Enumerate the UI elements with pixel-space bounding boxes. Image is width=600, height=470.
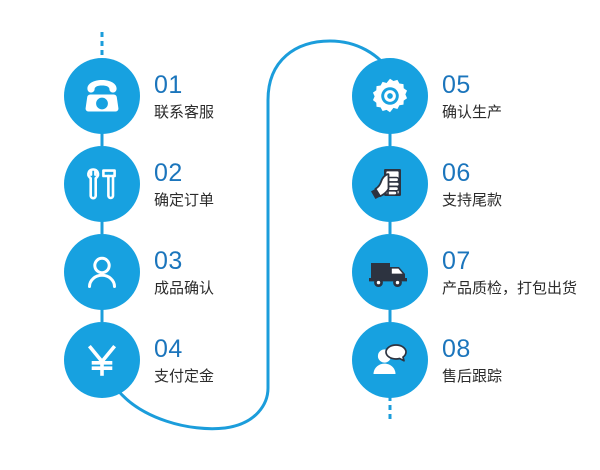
step-04-number: 04: [154, 337, 214, 362]
step-02-text: 02 确定订单: [154, 161, 214, 208]
person-icon: [80, 250, 124, 294]
step-05-number: 05: [442, 73, 502, 98]
step-01-badge: [64, 58, 140, 134]
step-07-text: 07 产品质检，打包出货: [442, 249, 577, 296]
step-07-number: 07: [442, 249, 577, 274]
step-04-badge: [64, 322, 140, 398]
step-05[interactable]: 05 确认生产: [352, 57, 600, 135]
step-01-text: 01 联系客服: [154, 73, 214, 120]
gear-icon: [367, 73, 413, 119]
yuan-currency-icon: [80, 338, 124, 382]
step-03-label: 成品确认: [154, 281, 214, 296]
step-05-text: 05 确认生产: [442, 73, 502, 120]
person-speech-bubble-icon: [367, 337, 413, 383]
step-07-badge: [352, 234, 428, 310]
step-06-number: 06: [442, 161, 502, 186]
step-08-text: 08 售后跟踪: [442, 337, 502, 384]
step-06-text: 06 支持尾款: [442, 161, 502, 208]
step-06[interactable]: $ 06 支持尾款: [352, 145, 600, 223]
step-05-badge: [352, 58, 428, 134]
step-03-number: 03: [154, 249, 214, 274]
step-01-number: 01: [154, 73, 214, 98]
step-02-badge: [64, 146, 140, 222]
step-04[interactable]: 04 支付定金: [64, 321, 364, 399]
step-08[interactable]: 08 售后跟踪: [352, 321, 600, 399]
step-02-number: 02: [154, 161, 214, 186]
step-02-label: 确定订单: [154, 193, 214, 208]
step-03-badge: [64, 234, 140, 310]
step-08-badge: [352, 322, 428, 398]
step-07[interactable]: 07 产品质检，打包出货: [352, 233, 600, 311]
step-02[interactable]: 02 确定订单: [64, 145, 364, 223]
step-04-text: 04 支付定金: [154, 337, 214, 384]
wrench-hammer-icon: [80, 162, 124, 206]
step-06-label: 支持尾款: [442, 193, 502, 208]
step-01-label: 联系客服: [154, 105, 214, 120]
step-07-label: 产品质检，打包出货: [442, 281, 577, 296]
step-06-badge: $: [352, 146, 428, 222]
step-08-number: 08: [442, 337, 502, 362]
telephone-icon: [80, 74, 124, 118]
hand-holding-money-icon: $: [367, 161, 413, 207]
step-01[interactable]: 01 联系客服: [64, 57, 364, 135]
process-flow-infographic: 01 联系客服 02 确定订单: [0, 0, 600, 470]
step-08-label: 售后跟踪: [442, 369, 502, 384]
delivery-truck-icon: [366, 248, 414, 296]
step-03-text: 03 成品确认: [154, 249, 214, 296]
step-03[interactable]: 03 成品确认: [64, 233, 364, 311]
step-05-label: 确认生产: [442, 105, 502, 120]
step-04-label: 支付定金: [154, 369, 214, 384]
